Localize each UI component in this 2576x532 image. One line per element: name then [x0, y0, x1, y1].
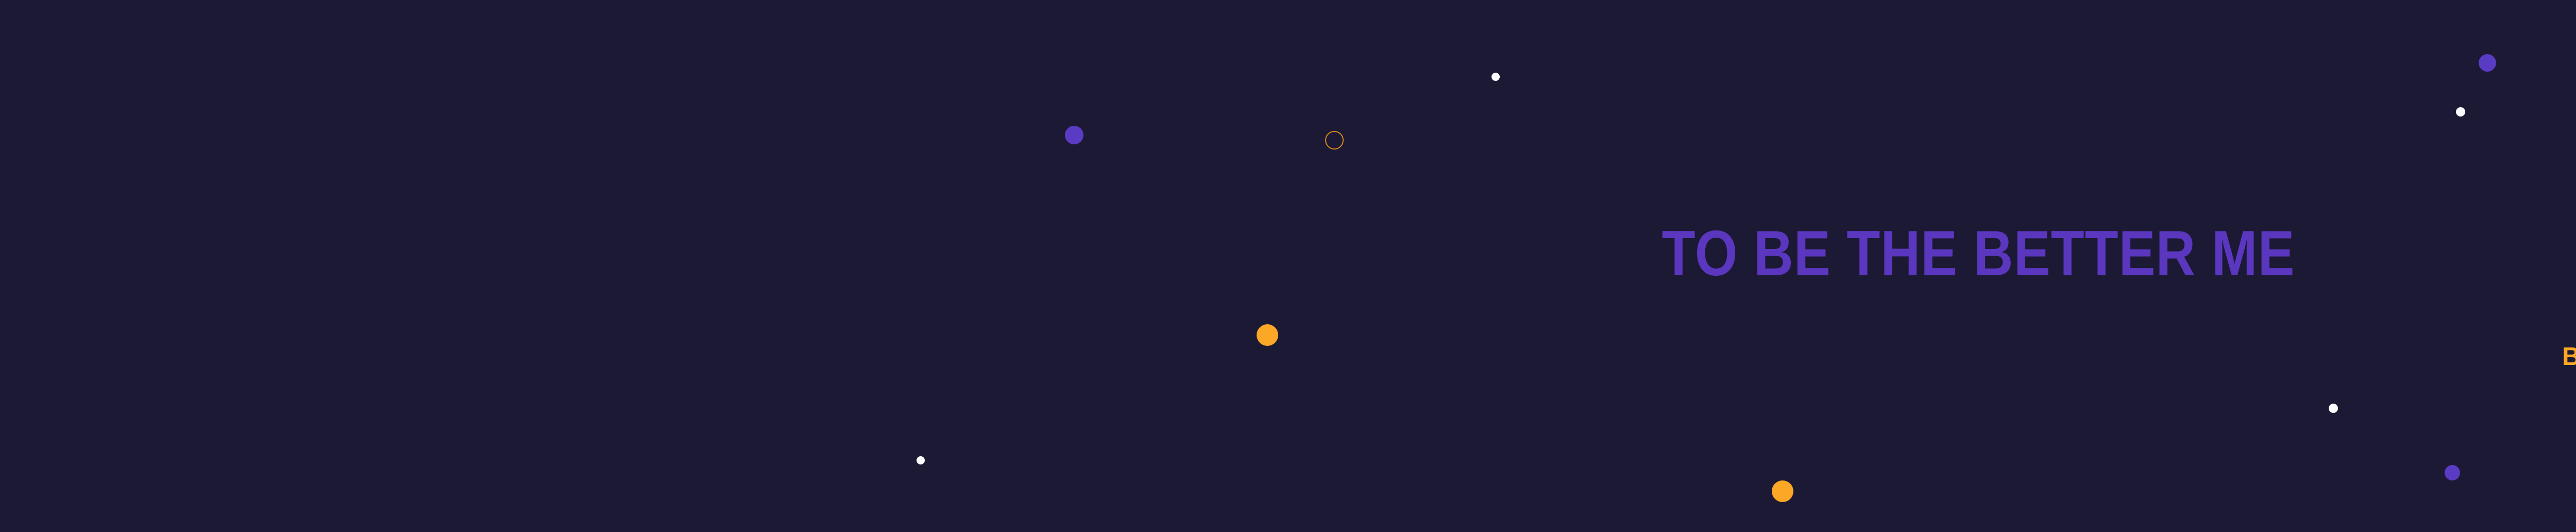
page-title: TO BE THE BETTER ME — [277, 222, 2576, 286]
author-credit: BY ANO — [2562, 343, 2576, 370]
hero-content: TO BE THE BETTER ME BY ANO — [0, 0, 2576, 532]
hero-banner: TO BE THE BETTER ME BY ANO — [0, 0, 2576, 532]
